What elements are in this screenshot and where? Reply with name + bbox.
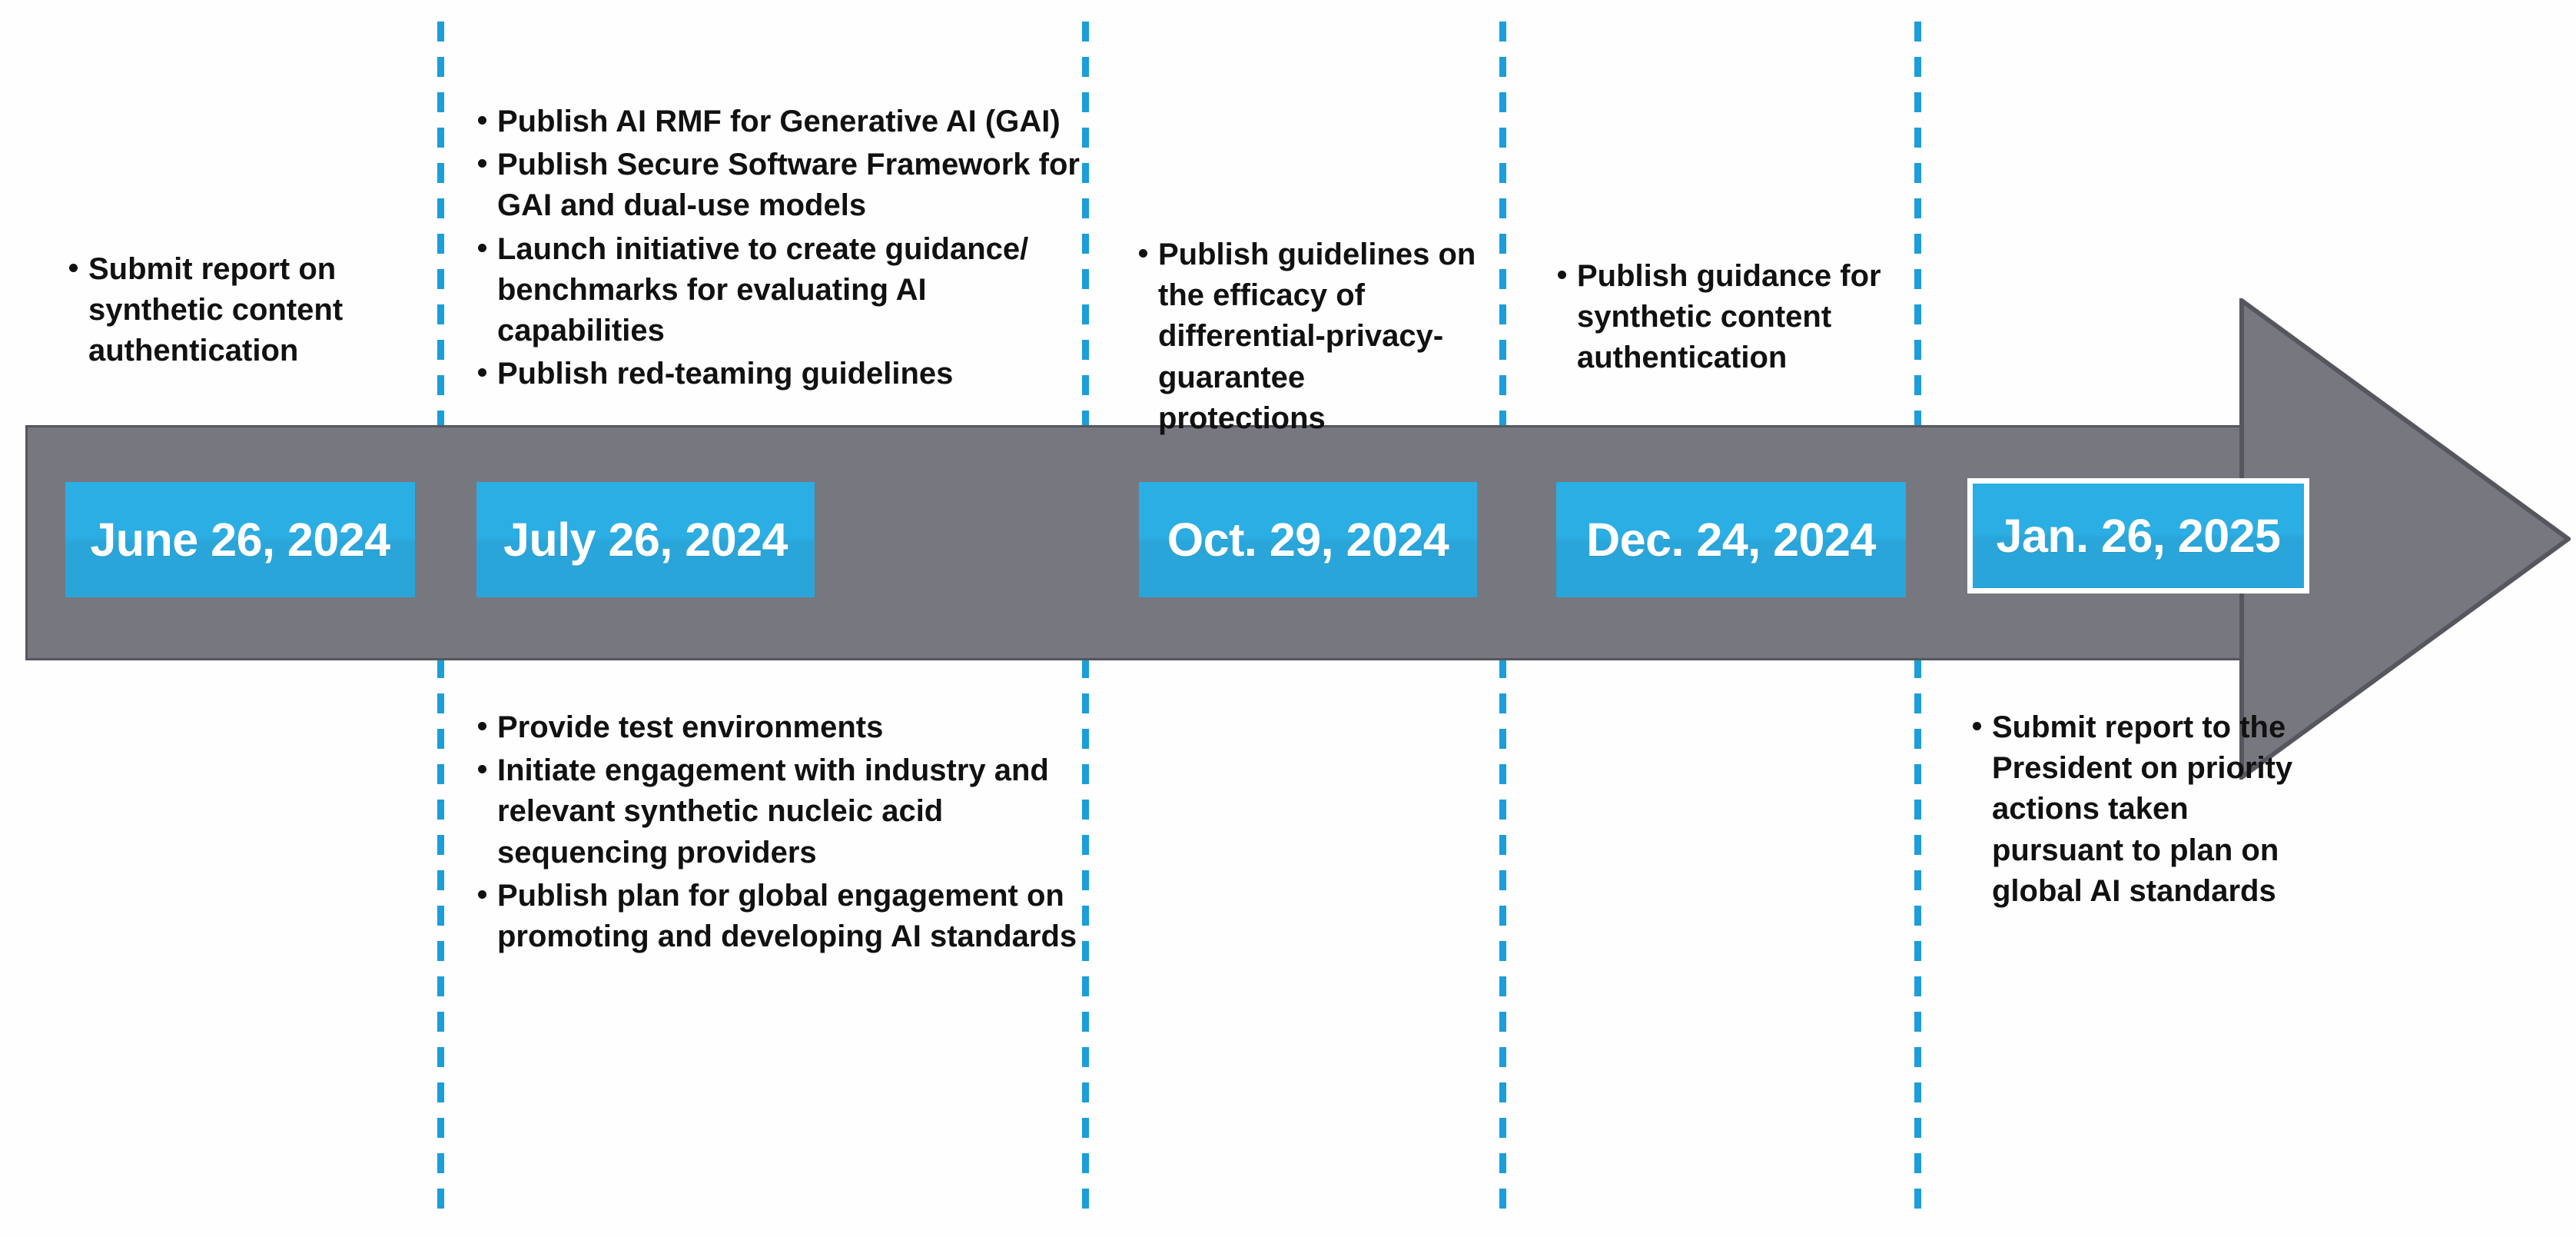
date-badge-july-26-2024[interactable]: July 26, 2024 (476, 482, 815, 597)
notes-above-june-26-2024: Submit report on synthetic content authe… (68, 249, 375, 374)
date-label: Oct. 29, 2024 (1167, 513, 1449, 567)
bullet-item: Publish plan for global engagement on pr… (476, 876, 1084, 957)
notes-below-july-26-2024: Provide test environments Initiate engag… (476, 707, 1084, 959)
bullet-item: Publish red-teaming guidelines (476, 354, 1084, 394)
bullet-item: Launch initiative to create guidance/ be… (476, 229, 1084, 352)
notes-above-oct-29-2024: Publish guidelines on the efficacy of di… (1137, 234, 1479, 441)
date-label: Jan. 26, 2025 (1997, 509, 2281, 563)
date-badge-oct-29-2024[interactable]: Oct. 29, 2024 (1139, 482, 1477, 597)
date-label: Dec. 24, 2024 (1586, 513, 1876, 567)
bullet-item: Publish AI RMF for Generative AI (GAI) (476, 101, 1084, 142)
timeline-diagram: Submit report on synthetic content authe… (0, 0, 2576, 1237)
date-badge-jan-26-2025[interactable]: Jan. 26, 2025 (1967, 478, 2309, 594)
date-badge-dec-24-2024[interactable]: Dec. 24, 2024 (1556, 482, 1906, 597)
bullet-item: Publish Secure Software Framework for GA… (476, 145, 1084, 226)
bullet-item: Publish guidance for synthetic content a… (1556, 256, 1898, 379)
date-badge-june-26-2024[interactable]: June 26, 2024 (65, 482, 415, 597)
notes-below-jan-26-2025: Submit report to the President on priori… (1971, 707, 2302, 914)
bullet-item: Publish guidelines on the efficacy of di… (1137, 234, 1479, 439)
bullet-item: Provide test environments (476, 707, 1084, 748)
bullet-item: Submit report on synthetic content authe… (68, 249, 375, 372)
bullet-item: Initiate engagement with industry and re… (476, 750, 1084, 873)
date-label: June 26, 2024 (90, 513, 390, 567)
notes-above-july-26-2024: Publish AI RMF for Generative AI (GAI) P… (476, 101, 1084, 397)
notes-above-dec-24-2024: Publish guidance for synthetic content a… (1556, 256, 1898, 381)
date-label: July 26, 2024 (503, 513, 788, 567)
bullet-item: Submit report to the President on priori… (1971, 707, 2302, 912)
